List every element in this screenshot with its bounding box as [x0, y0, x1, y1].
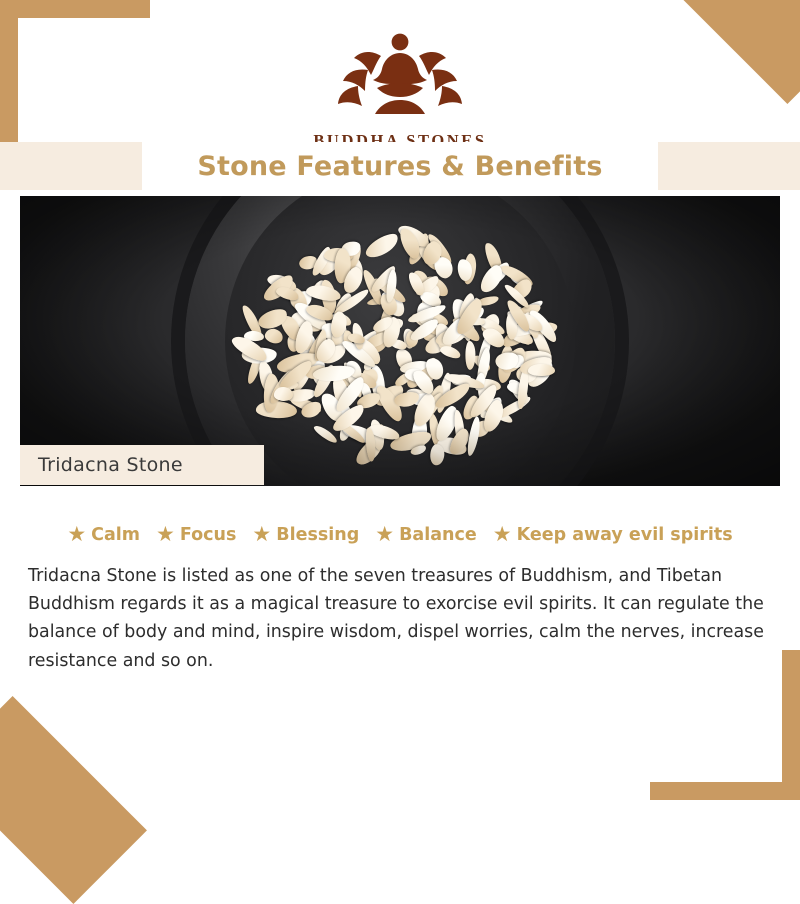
stone-chip — [263, 327, 284, 346]
benefit-item: ★Keep away evil spirits — [488, 524, 738, 545]
brand-logo-block: BUDDHA STONES — [0, 26, 800, 151]
star-icon: ★ — [252, 524, 271, 545]
stone-chip — [439, 344, 462, 360]
star-icon: ★ — [493, 524, 512, 545]
banner-title-box: Stone Features & Benefits — [142, 142, 658, 190]
benefit-item: ★Focus — [151, 524, 241, 545]
stone-chip — [362, 230, 401, 262]
stone-chip — [430, 444, 445, 466]
tridacna-stone-heap — [235, 222, 565, 472]
benefit-label: Balance — [399, 525, 477, 545]
benefit-label: Calm — [91, 525, 140, 545]
benefit-item: ★Calm — [62, 524, 145, 545]
lotus-meditation-figure-icon — [0, 26, 800, 123]
star-icon: ★ — [375, 524, 394, 545]
page-title: Stone Features & Benefits — [197, 151, 602, 182]
star-icon: ★ — [67, 524, 86, 545]
stone-name-label: Tridacna Stone — [38, 454, 183, 476]
stone-name-tag: Tridacna Stone — [20, 445, 264, 485]
product-photo — [20, 196, 780, 486]
description-text: Tridacna Stone is listed as one of the s… — [28, 562, 774, 675]
benefit-item: ★Balance — [370, 524, 481, 545]
benefit-label: Focus — [180, 525, 237, 545]
infographic-page: BUDDHA STONES Stone Features & Benefits … — [0, 0, 800, 800]
corner-decor-bottom-left-diagonal — [0, 696, 147, 904]
benefits-list: ★Calm★Focus★Blessing★Balance★Keep away e… — [0, 524, 800, 545]
stone-chip — [465, 341, 475, 370]
benefit-label: Blessing — [276, 525, 359, 545]
corner-decor-bottom-right-horizontal — [650, 782, 800, 800]
star-icon: ★ — [156, 524, 175, 545]
benefit-label: Keep away evil spirits — [517, 525, 733, 545]
corner-decor-bottom-right-vertical — [782, 650, 800, 800]
corner-decor-top-left-horizontal — [0, 0, 150, 18]
benefit-item: ★Blessing — [247, 524, 364, 545]
